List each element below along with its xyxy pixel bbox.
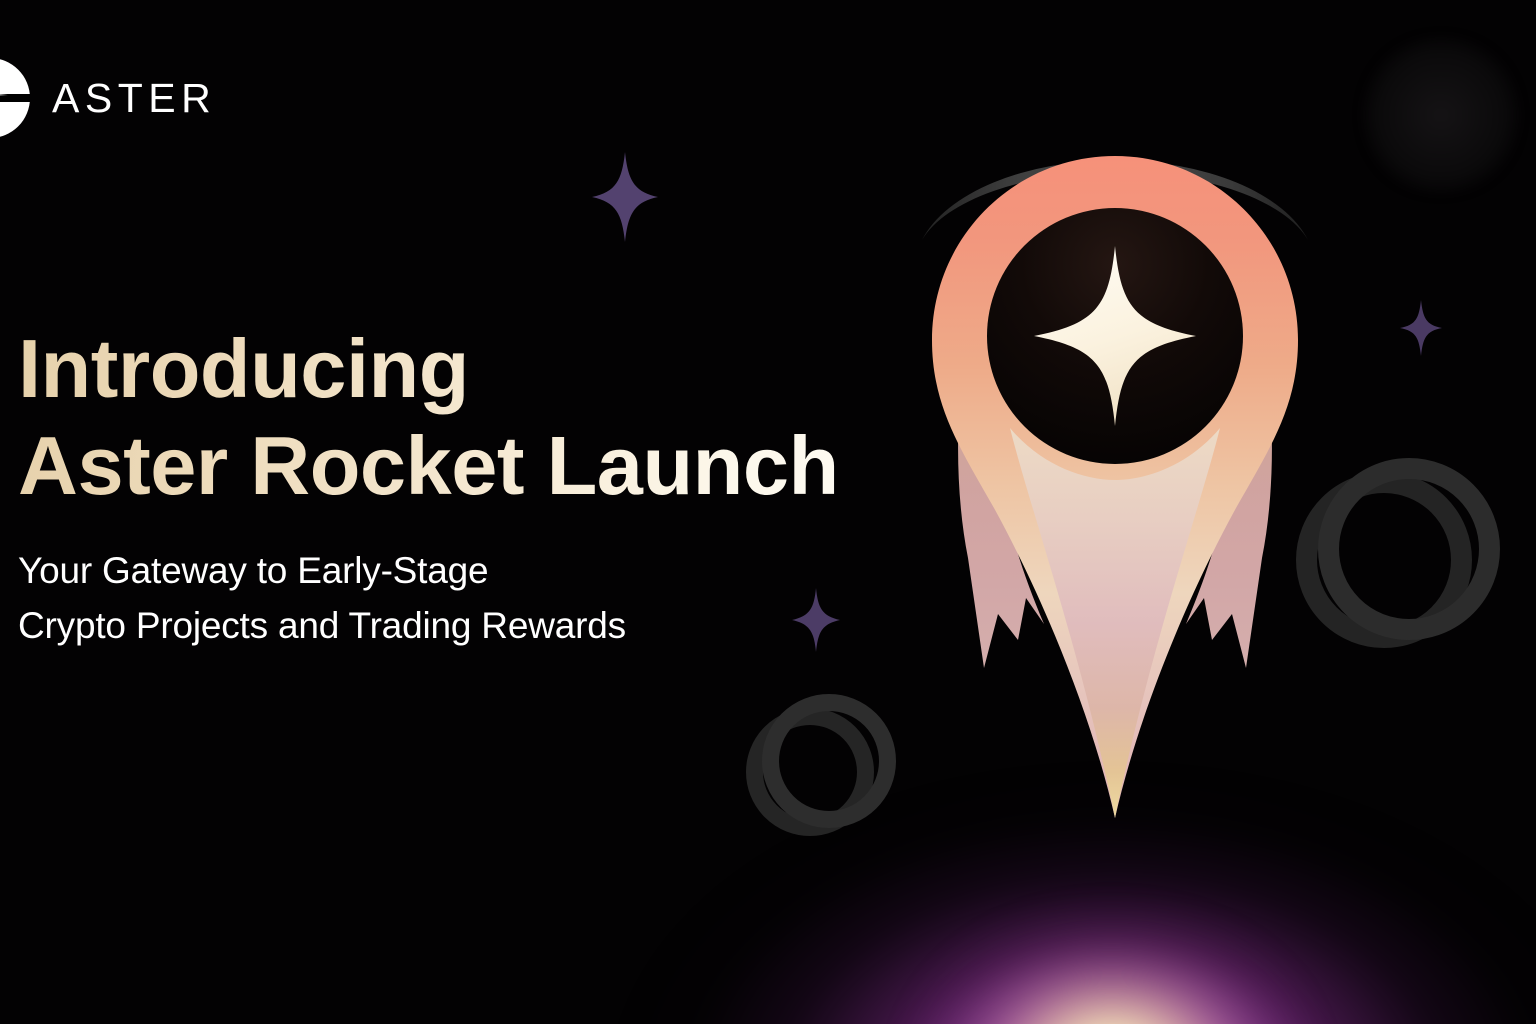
page-title: Introducing Aster Rocket Launch (18, 320, 918, 514)
sparkle-top-left-icon (592, 152, 658, 242)
brand-name: ASTER (52, 78, 216, 119)
page-subtitle: Your Gateway to Early-Stage Crypto Proje… (18, 544, 918, 653)
hero-copy: Introducing Aster Rocket Launch Your Gat… (18, 320, 918, 653)
aster-logo-icon (0, 58, 30, 138)
rocket-map-pin-illustration (890, 128, 1340, 868)
background-orb-top-right (1366, 40, 1516, 190)
sparkle-right-icon (1400, 300, 1442, 356)
brand-logo[interactable]: ASTER (0, 58, 216, 138)
exhaust-core-glow (897, 862, 1327, 1024)
hero-banner: ASTER Introducing Aster Rocket Launch Yo… (0, 0, 1536, 1024)
pin-body-taper (1010, 428, 1220, 818)
